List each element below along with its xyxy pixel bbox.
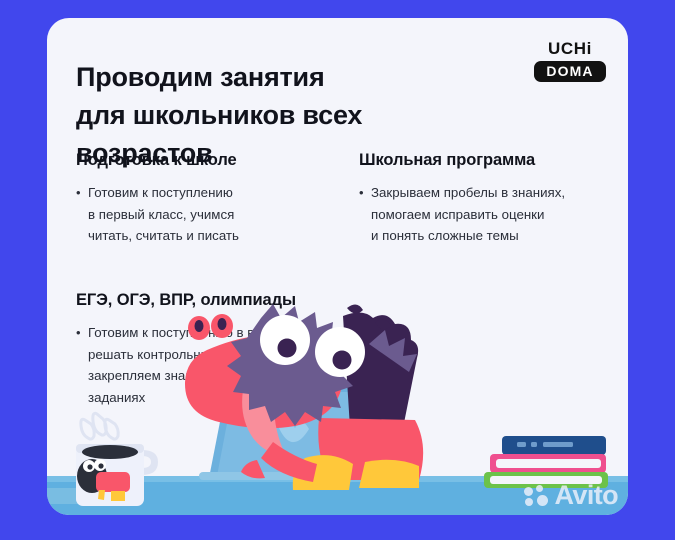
list-item-text: Закрываем пробелы в знаниях, помогаем ис…: [371, 182, 565, 247]
logo-wordmark: UCHi: [534, 40, 606, 58]
list-item-text: Готовим к поступлению в первый класс, уч…: [88, 182, 239, 247]
text-line: читать, считать и писать: [88, 228, 239, 243]
list-item: • Готовим к поступлению в первый класс, …: [76, 182, 376, 247]
text-line: в первый класс, учимся: [88, 207, 234, 222]
screenshot-root: UCHi DOMA Проводим занятия для школьнико…: [0, 0, 675, 540]
avito-wordmark: Avito: [555, 482, 619, 509]
bullet-icon: •: [76, 182, 88, 203]
bullet-icon: •: [359, 182, 371, 203]
avito-watermark: Avito: [524, 482, 619, 509]
text-line: помогаем исправить оценки: [371, 207, 544, 222]
list-item: • Закрываем пробелы в знаниях, помогаем …: [359, 182, 628, 247]
text-line: Закрываем пробелы в знаниях,: [371, 185, 565, 200]
brand-logo: UCHi DOMA: [534, 40, 606, 82]
avito-logo-icon: [524, 485, 550, 507]
section-heading: Подготовка к школе: [76, 150, 376, 170]
section-preschool: Подготовка к школе • Готовим к поступлен…: [76, 150, 376, 247]
content-card: UCHi DOMA Проводим занятия для школьнико…: [47, 18, 628, 515]
section-school-program: Школьная программа • Закрываем пробелы в…: [359, 150, 628, 247]
text-line: Готовим к поступлению: [88, 185, 233, 200]
text-line: и понять сложные темы: [371, 228, 519, 243]
page-title-line-1: Проводим занятия: [76, 62, 325, 92]
logo-pill-label: DOMA: [534, 61, 606, 82]
section-heading: Школьная программа: [359, 150, 628, 170]
